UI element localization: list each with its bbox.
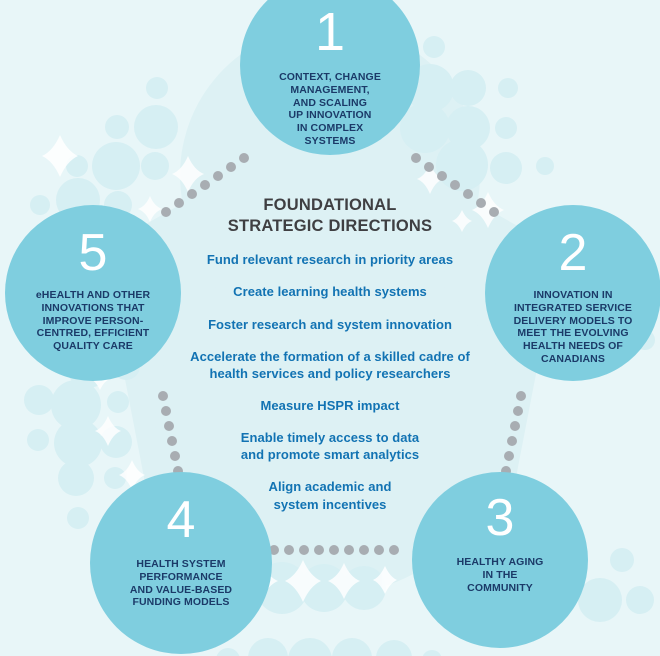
node-label-line: CENTRED, EFFICIENT <box>13 327 173 340</box>
item-line: Fund relevant research in priority areas <box>170 251 490 268</box>
item-line: Align academic and <box>170 478 490 495</box>
node-label-line: HEALTHY AGING <box>425 556 575 569</box>
center-panel: FOUNDATIONAL STRATEGIC DIRECTIONS Fund r… <box>170 195 490 513</box>
item-line: Accelerate the formation of a skilled ca… <box>170 348 490 365</box>
item-line: Create learning health systems <box>170 283 490 300</box>
center-title-line-1: FOUNDATIONAL <box>170 195 490 216</box>
node-circle-1[interactable]: 1 CONTEXT, CHANGE MANAGEMENT, AND SCALIN… <box>240 0 420 155</box>
item-line: system incentives <box>170 496 490 513</box>
node-label-line: PERFORMANCE <box>96 571 266 584</box>
node-label-line: DELIVERY MODELS TO <box>493 315 653 328</box>
node-label-line: COMMUNITY <box>425 582 575 595</box>
node-label-line: MANAGEMENT, <box>255 84 405 97</box>
node-label-line: MEET THE EVOLVING <box>493 327 653 340</box>
node-label-2: INNOVATION IN INTEGRATED SERVICE DELIVER… <box>493 289 653 366</box>
node-label-1: CONTEXT, CHANGE MANAGEMENT, AND SCALING … <box>255 71 405 148</box>
item-line: health services and policy researchers <box>170 365 490 382</box>
item-line: Enable timely access to data <box>170 429 490 446</box>
strategic-direction-item-6: Enable timely access to data and promote… <box>170 429 490 463</box>
node-label-line: CONTEXT, CHANGE <box>255 71 405 84</box>
node-label-line: IN THE <box>425 569 575 582</box>
node-label-line: HEALTH NEEDS OF <box>493 340 653 353</box>
node-label-line: IN COMPLEX <box>255 122 405 135</box>
node-label-line: HEALTH SYSTEM <box>96 558 266 571</box>
node-number-2: 2 <box>559 227 588 279</box>
strategic-direction-item-4: Accelerate the formation of a skilled ca… <box>170 348 490 382</box>
node-label-line: AND SCALING <box>255 97 405 110</box>
node-label-line: FUNDING MODELS <box>96 596 266 609</box>
node-label-line: IMPROVE PERSON- <box>13 315 173 328</box>
node-label-line: eHEALTH AND OTHER <box>13 289 173 302</box>
node-label-line: INNOVATION IN <box>493 289 653 302</box>
node-number-1: 1 <box>315 5 345 59</box>
node-circle-5[interactable]: 5 eHEALTH AND OTHER INNOVATIONS THAT IMP… <box>5 205 181 381</box>
node-label-line: QUALITY CARE <box>13 340 173 353</box>
node-circle-2[interactable]: 2 INNOVATION IN INTEGRATED SERVICE DELIV… <box>485 205 660 381</box>
center-title-line-2: STRATEGIC DIRECTIONS <box>170 216 490 237</box>
node-label-line: INTEGRATED SERVICE <box>493 302 653 315</box>
node-label-4: HEALTH SYSTEM PERFORMANCE AND VALUE-BASE… <box>96 558 266 609</box>
node-label-3: HEALTHY AGING IN THE COMMUNITY <box>425 556 575 594</box>
strategic-direction-item-7: Align academic and system incentives <box>170 478 490 512</box>
node-label-line: SYSTEMS <box>255 135 405 148</box>
node-label-line: UP INNOVATION <box>255 109 405 122</box>
strategic-direction-item-1: Fund relevant research in priority areas <box>170 251 490 268</box>
center-title: FOUNDATIONAL STRATEGIC DIRECTIONS <box>170 195 490 237</box>
node-label-line: CANADIANS <box>493 353 653 366</box>
item-line: Measure HSPR impact <box>170 397 490 414</box>
node-label-5: eHEALTH AND OTHER INNOVATIONS THAT IMPRO… <box>13 289 173 353</box>
node-label-line: AND VALUE-BASED <box>96 584 266 597</box>
item-line: and promote smart analytics <box>170 446 490 463</box>
strategic-direction-item-2: Create learning health systems <box>170 283 490 300</box>
item-line: Foster research and system innovation <box>170 316 490 333</box>
node-label-line: INNOVATIONS THAT <box>13 302 173 315</box>
diagram-canvas: 1 CONTEXT, CHANGE MANAGEMENT, AND SCALIN… <box>0 0 660 656</box>
strategic-direction-item-5: Measure HSPR impact <box>170 397 490 414</box>
node-number-5: 5 <box>79 227 108 279</box>
strategic-direction-item-3: Foster research and system innovation <box>170 316 490 333</box>
